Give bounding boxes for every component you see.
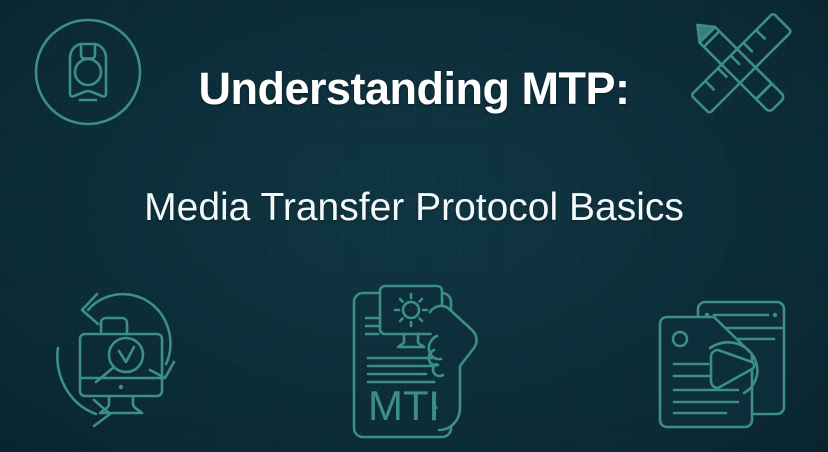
subtitle-container: Media Transfer Protocol Basics bbox=[0, 186, 828, 231]
sync-monitor-search-icon bbox=[52, 274, 188, 438]
page-title: Understanding MTP: bbox=[199, 64, 630, 114]
presentation-slide: MTP bbox=[0, 0, 828, 452]
mtp-document-hand-icon: MTP bbox=[338, 280, 492, 442]
slide-content-layer: MTP bbox=[0, 0, 828, 452]
media-files-icon bbox=[652, 292, 802, 434]
title-container: Understanding MTP: bbox=[0, 64, 828, 114]
page-subtitle: Media Transfer Protocol Basics bbox=[144, 186, 684, 231]
